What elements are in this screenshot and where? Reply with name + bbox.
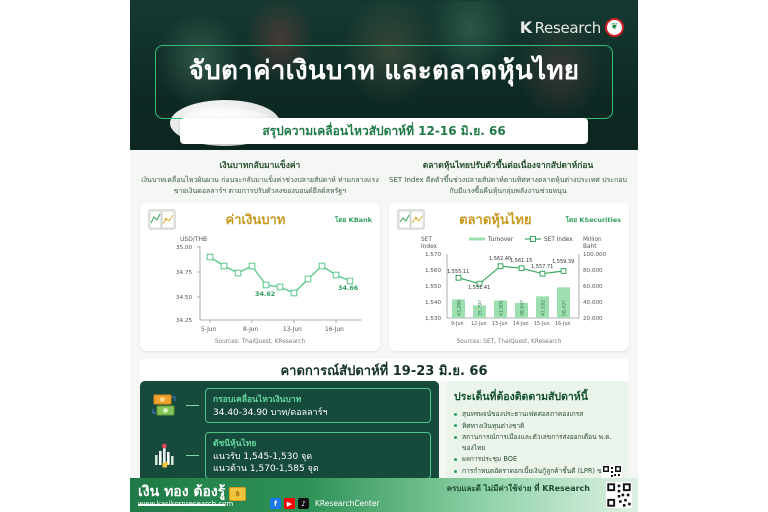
svg-text:100,000: 100,000	[583, 252, 607, 258]
svg-text:9-Jun: 9-Jun	[451, 321, 464, 327]
logo-k-letter: K	[520, 18, 532, 37]
svg-text:1,560: 1,560	[425, 268, 441, 274]
currency-line-chart: USD/THB 35.00 34.75 34.50 34.25	[148, 232, 372, 338]
svg-text:34.50: 34.50	[176, 295, 192, 301]
currency-y-axis-label: USD/THB	[180, 236, 207, 243]
logo-research-text: Research	[535, 19, 601, 37]
forecast-item-set: ดัชนีหุ้นไทย แนวรับ 1,545-1,530 จุด แนวต…	[148, 432, 431, 479]
summary-set-heading: ตลาดหุ้นไทยปรับตัวขึ้นต่อเนื่องจากสัปดาห…	[388, 158, 628, 172]
forecast-baht-value: 34.40-34.90 บาท/ดอลลาร์ฯ	[213, 407, 423, 419]
legend-turnover-label: Turnover	[487, 237, 514, 243]
svg-text:1,561.15: 1,561.15	[510, 258, 532, 264]
svg-text:41,901: 41,901	[499, 300, 505, 316]
footer: เงิน ทอง ต้องรู้ ฿ ครบและดี ไม่มีค่าใช้จ…	[130, 478, 638, 512]
tiktok-icon[interactable]: ♪	[298, 498, 309, 509]
summary-set: ตลาดหุ้นไทยปรับตัวขึ้นต่อเนื่องจากสัปดาห…	[388, 158, 628, 196]
svg-text:1,557.71: 1,557.71	[531, 264, 553, 270]
svg-text:43,286: 43,286	[457, 300, 463, 316]
stock-candle-icon	[148, 443, 180, 469]
svg-text:35.00: 35.00	[176, 245, 192, 251]
card-currency-byline: โดย KBank	[335, 215, 372, 225]
footer-tagline: ครบและดี ไม่มีค่าใช้จ่าย ที่ KResearch	[447, 482, 590, 495]
card-set-title: ตลาดหุ้นไทย	[431, 209, 560, 230]
footer-website[interactable]: www.kasikornresearch.com	[138, 500, 233, 508]
banknote-icon	[148, 393, 180, 419]
svg-text:5-Jun: 5-Jun	[201, 327, 216, 333]
svg-text:15-Jun: 15-Jun	[534, 321, 550, 327]
forecast-left-panel: กรอบเคลื่อนไหวเงินบาท 34.40-34.90 บาท/ดอ…	[140, 381, 439, 489]
svg-text:Index: Index	[421, 244, 438, 250]
connector-line	[186, 455, 199, 456]
card-currency-sources: Sources: ThaiQuest, KResearch	[148, 339, 372, 345]
svg-text:8-Jun: 8-Jun	[243, 327, 258, 333]
hero-subtitle-pill: สรุปความเคลื่อนไหวสัปดาห์ที่ 12-16 มิ.ย.…	[180, 118, 588, 144]
svg-text:1,570: 1,570	[425, 252, 441, 258]
forecast-baht-box: กรอบเคลื่อนไหวเงินบาท 34.40-34.90 บาท/ดอ…	[205, 388, 431, 423]
svg-text:13-Jun: 13-Jun	[283, 327, 302, 333]
forecast-set-label: ดัชนีหุ้นไทย	[213, 436, 423, 450]
watchlist-title: ประเด็นที่ต้องติดตามสัปดาห์นี้	[454, 388, 620, 405]
kresearch-logo: K Research ❦	[520, 18, 624, 37]
facebook-icon[interactable]: f	[270, 498, 281, 509]
qr-code-icon[interactable]	[606, 482, 632, 508]
svg-text:1,550: 1,550	[425, 284, 441, 290]
svg-text:1,551.41: 1,551.41	[468, 285, 490, 291]
footer-channel-name: KResearchCenter	[315, 499, 380, 508]
chart-thumbnail-icon	[148, 209, 176, 230]
svg-text:34.75: 34.75	[176, 270, 192, 276]
forecast-title: คาดการณ์สัปดาห์ที่ 19-23 มิ.ย. 66	[280, 360, 487, 381]
card-set: ตลาดหุ้นไทย โดย KSecurities Turnover SET…	[389, 202, 629, 351]
svg-text:14-Jun: 14-Jun	[513, 321, 529, 327]
forecast-set-value: แนวรับ 1,545-1,530 จุด แนวต้าน 1,570-1,5…	[213, 451, 423, 475]
list-item: ทิศทางเงินทุนต่างชาติ	[454, 421, 620, 431]
turnover-bars	[452, 287, 570, 318]
forecast-title-bar: คาดการณ์สัปดาห์ที่ 19-23 มิ.ย. 66	[140, 359, 628, 381]
svg-text:40,000: 40,000	[583, 300, 603, 306]
svg-text:Baht: Baht	[583, 244, 597, 250]
svg-text:20,000: 20,000	[583, 316, 603, 322]
svg-text:16-Jun: 16-Jun	[555, 321, 571, 327]
list-item: สุนทรพจน์ของประธานเฟดต่อสภาคองเกรส	[454, 409, 620, 419]
watchlist-panel: ประเด็นที่ต้องติดตามสัปดาห์นี้ สุนทรพจน์…	[446, 381, 628, 489]
bottom-panels: กรอบเคลื่อนไหวเงินบาท 34.40-34.90 บาท/ดอ…	[140, 381, 628, 489]
currency-label-34-62: 34.62	[255, 290, 275, 298]
svg-text:1,540: 1,540	[425, 300, 441, 306]
connector-line	[186, 405, 199, 406]
svg-text:13-Jun: 13-Jun	[492, 321, 508, 327]
coin-icon: ฿	[229, 487, 246, 501]
card-currency: ค่าเงินบาท โดย KBank USD/THB 35.00 34.75…	[140, 202, 380, 351]
summary-baht: เงินบาทกลับมาแข็งค่า เงินบาทเคลื่อนไหวผั…	[140, 158, 380, 196]
summary-baht-body: เงินบาทเคลื่อนไหวผันผวน ก่อนจะกลับมาแข็ง…	[140, 175, 380, 196]
list-item: ผลการประชุม BOE	[454, 454, 620, 464]
summary-set-body: SET Index ดีดตัวขึ้นช่วงปลายสัปดาห์ตามทิ…	[388, 175, 628, 196]
svg-text:1,562.40: 1,562.40	[489, 256, 511, 262]
svg-text:12-Jun: 12-Jun	[471, 321, 487, 327]
chart-thumbnail-icon	[397, 209, 425, 230]
set-index-chart: Turnover SET Index SET Index Million Bah…	[397, 232, 621, 338]
poster: K Research ❦ จับตาค่าเงินบาท และตลาดหุ้น…	[130, 0, 638, 512]
card-currency-header: ค่าเงินบาท โดย KBank	[148, 209, 372, 230]
forecast-baht-label: กรอบเคลื่อนไหวเงินบาท	[213, 392, 423, 406]
summary-baht-heading: เงินบาทกลับมาแข็งค่า	[140, 158, 380, 172]
hero-banner: K Research ❦ จับตาค่าเงินบาท และตลาดหุ้น…	[130, 0, 638, 150]
set-y2-axis-label: Million	[583, 237, 602, 243]
svg-text:38,947: 38,947	[520, 300, 526, 316]
set-y-axis-label: SET	[421, 237, 432, 243]
charts-row: ค่าเงินบาท โดย KBank USD/THB 35.00 34.75…	[130, 200, 638, 357]
svg-text:34.25: 34.25	[176, 318, 192, 324]
forecast-item-baht: กรอบเคลื่อนไหวเงินบาท 34.40-34.90 บาท/ดอ…	[148, 388, 431, 423]
summary-row: เงินบาทกลับมาแข็งค่า เงินบาทเคลื่อนไหวผั…	[130, 150, 638, 200]
footer-social-row: f ▶ ♪ KResearchCenter	[270, 498, 380, 509]
card-set-sources: Sources: SET, ThaiQuest, KResearch	[397, 339, 621, 345]
card-set-header: ตลาดหุ้นไทย โดย KSecurities	[397, 209, 621, 230]
svg-text:1,559.39: 1,559.39	[552, 259, 574, 265]
svg-text:58,437: 58,437	[562, 300, 568, 316]
svg-text:35,797: 35,797	[478, 300, 484, 316]
page-title: จับตาค่าเงินบาท และตลาดหุ้นไทย	[130, 50, 638, 91]
currency-label-34-66: 34.66	[338, 284, 359, 292]
svg-text:1,530: 1,530	[425, 316, 441, 322]
svg-text:47,182: 47,182	[541, 300, 547, 316]
infographic-root: K Research ❦ จับตาค่าเงินบาท และตลาดหุ้น…	[0, 0, 768, 512]
card-set-byline: โดย KSecurities	[566, 215, 621, 225]
youtube-icon[interactable]: ▶	[284, 498, 295, 509]
svg-text:1,555.11: 1,555.11	[447, 269, 469, 275]
card-currency-title: ค่าเงินบาท	[182, 209, 329, 230]
svg-text:80,000: 80,000	[583, 268, 603, 274]
svg-text:60,000: 60,000	[583, 284, 603, 290]
forecast-set-box: ดัชนีหุ้นไทย แนวรับ 1,545-1,530 จุด แนวต…	[205, 432, 431, 479]
svg-text:16-Jun: 16-Jun	[325, 327, 344, 333]
legend-setindex-label: SET Index	[544, 237, 573, 243]
list-item: สถานการณ์การเมืองและตัวเลขการส่งออกเดือน…	[454, 432, 620, 452]
leaf-icon: ❦	[605, 18, 624, 37]
